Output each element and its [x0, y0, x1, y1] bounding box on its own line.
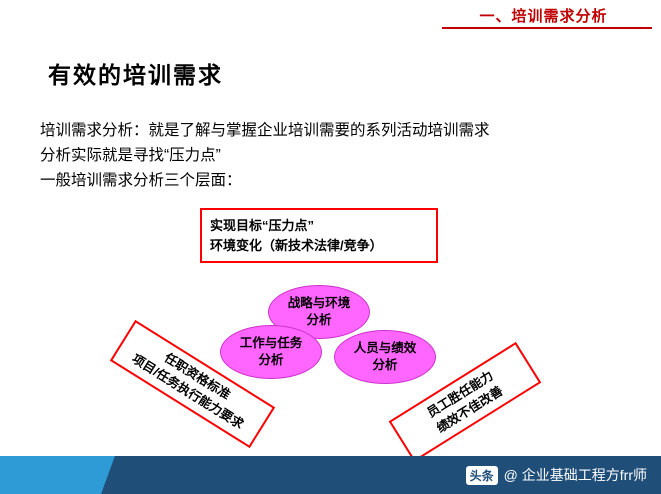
slide-header: 一、培训需求分析 — [436, 0, 661, 30]
pressure-point-box: 实现目标“压力点” 环境变化（新技术法律/竞争） — [200, 208, 438, 263]
pressure-point-line-1: 实现目标“压力点” — [202, 210, 436, 236]
body-line-2: 分析实际就是寻找“压力点” — [40, 143, 620, 168]
slide-canvas: 一、培训需求分析 有效的培训需求 培训需求分析：就是了解与掌握企业培训需要的系列… — [0, 0, 661, 494]
footer-brand-text: @ 企业基础工程方frr师 — [504, 465, 647, 485]
pressure-point-line-2: 环境变化（新技术法律/竞争） — [202, 236, 436, 256]
oval-personnel-performance: 人员与绩效 分析 — [334, 330, 436, 384]
header-title: 一、培训需求分析 — [436, 5, 651, 26]
footer-branding: 头条 @ 企业基础工程方frr师 — [466, 465, 647, 485]
oval-work-task-line-2: 分析 — [258, 352, 283, 369]
slide-footer: 头条 @ 企业基础工程方frr师 — [0, 456, 661, 494]
header-underline — [442, 27, 652, 29]
oval-personnel-performance-line-1: 人员与绩效 — [354, 340, 417, 357]
oval-strategy-environment-line-2: 分析 — [306, 312, 331, 329]
oval-work-task: 工作与任务 分析 — [220, 325, 322, 379]
body-paragraph: 培训需求分析：就是了解与掌握企业培训需要的系列活动培训需求 分析实际就是寻找“压… — [40, 118, 620, 193]
body-line-3: 一般培训需求分析三个层面： — [40, 168, 620, 193]
oval-personnel-performance-line-2: 分析 — [372, 357, 397, 374]
body-line-1: 培训需求分析：就是了解与掌握企业培训需要的系列活动培训需求 — [40, 118, 620, 143]
oval-strategy-environment-line-1: 战略与环境 — [288, 295, 351, 312]
oval-work-task-line-1: 工作与任务 — [240, 335, 303, 352]
toutiao-badge: 头条 — [466, 466, 498, 485]
page-title: 有效的培训需求 — [48, 56, 223, 90]
